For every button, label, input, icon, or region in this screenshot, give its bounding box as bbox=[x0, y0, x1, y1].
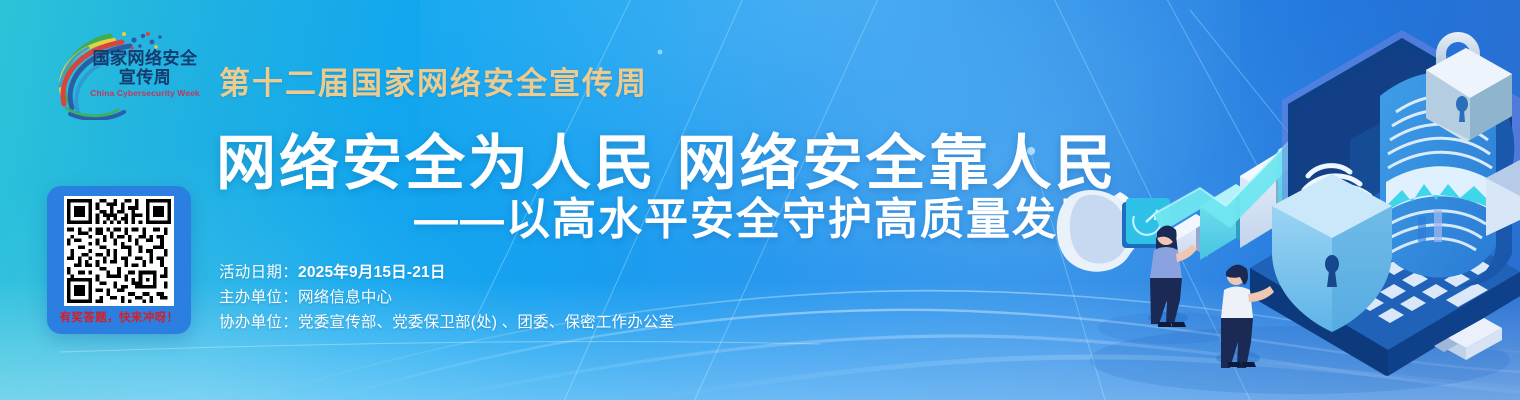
banner-subheadline: ——以高水平安全守护高质量发展 bbox=[224, 198, 1104, 242]
organizer-label: 主办单位： bbox=[219, 289, 298, 306]
logo-english-text: China Cybersecurity Week bbox=[80, 88, 210, 98]
logo-line-1: 国家网络安全 bbox=[80, 50, 210, 68]
qr-code-svg bbox=[67, 199, 171, 303]
qr-code-card[interactable]: 有奖答题，快来冲呀！ bbox=[47, 186, 191, 334]
co-organizer-value: 党委宣传部、党委保卫部(处) 、团委、保密工作办公室 bbox=[298, 314, 674, 331]
banner-kicker-title: 第十二届国家网络安全宣传周 bbox=[219, 58, 648, 103]
cybersecurity-week-banner: 国家网络安全 宣传周 China Cybersecurity Week bbox=[0, 0, 1520, 400]
banner-headline: 网络安全为人民 网络安全靠人民 bbox=[216, 134, 1118, 194]
organizer-row: 主办单位：网络信息中心 bbox=[219, 285, 674, 310]
event-details-block: 活动日期：2025年9月15日-21日 主办单位：网络信息中心 协办单位：党委宣… bbox=[219, 260, 674, 335]
event-date-value: 2025年9月15日-21日 bbox=[298, 264, 446, 281]
illustration-svg bbox=[1050, 0, 1520, 400]
organizer-value: 网络信息中心 bbox=[298, 289, 392, 306]
event-date-row: 活动日期：2025年9月15日-21日 bbox=[219, 260, 674, 285]
logo-text-block: 国家网络安全 宣传周 China Cybersecurity Week bbox=[80, 50, 210, 98]
qr-card-reflection: 有奖答题，快来冲呀！ bbox=[47, 336, 191, 396]
co-organizer-row: 协办单位：党委宣传部、党委保卫部(处) 、团委、保密工作办公室 bbox=[219, 310, 674, 335]
co-organizer-label: 协办单位： bbox=[219, 314, 298, 331]
logo-line-2: 宣传周 bbox=[80, 68, 210, 88]
event-date-label: 活动日期： bbox=[219, 264, 298, 281]
cybersecurity-illustration bbox=[1050, 0, 1520, 400]
qr-caption: 有奖答题，快来冲呀！ bbox=[60, 309, 179, 325]
qr-code-image[interactable] bbox=[64, 196, 174, 306]
